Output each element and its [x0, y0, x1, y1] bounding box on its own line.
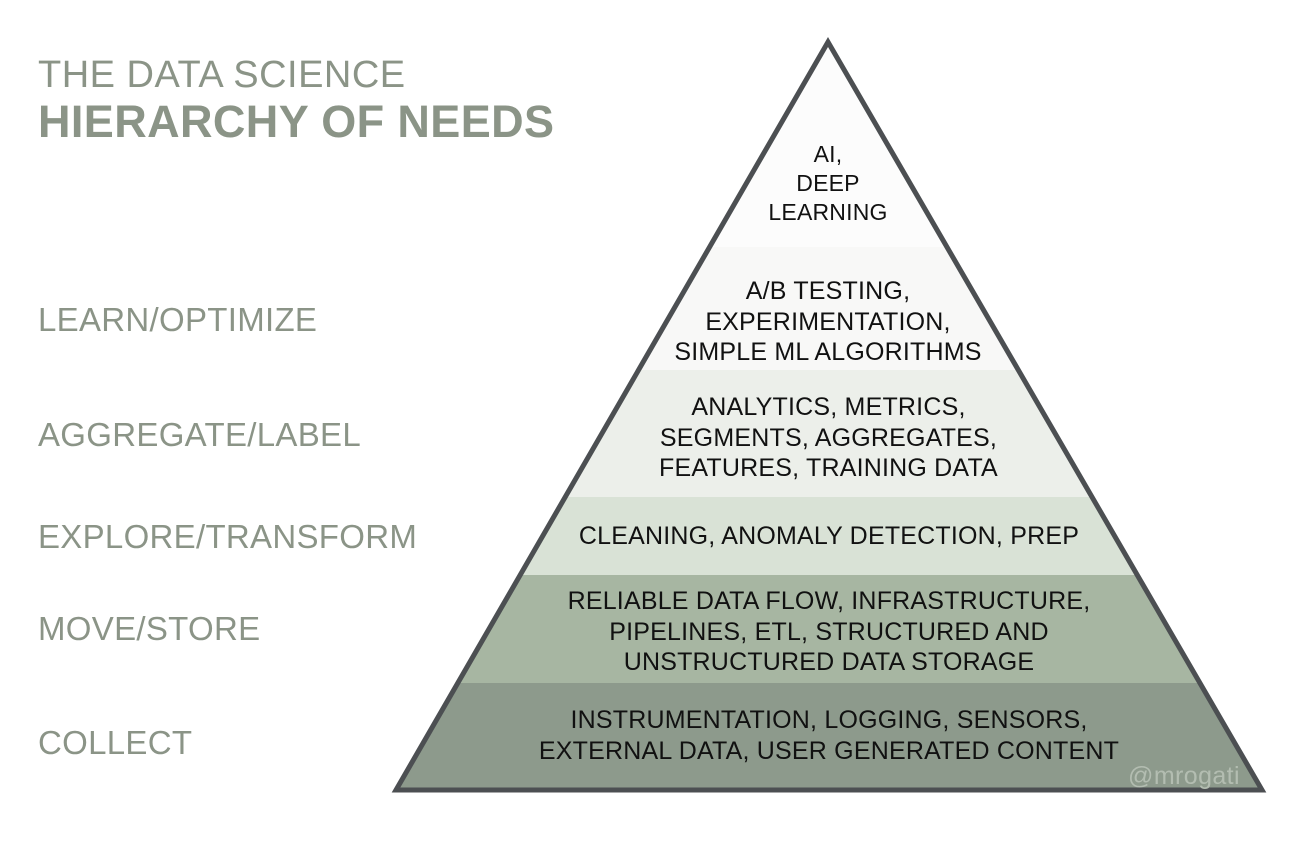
- pyramid-svg: [0, 0, 1315, 843]
- watermark-handle: @mrogati: [1128, 762, 1240, 791]
- pyramid-tier-ai-deep-learning: [710, 42, 947, 247]
- pyramid-tier-move-store: [457, 575, 1200, 683]
- pyramid-tier-aggregate-label: [565, 370, 1092, 497]
- infographic-canvas: THE DATA SCIENCE HIERARCHY OF NEEDS LEAR…: [0, 0, 1315, 843]
- pyramid-tier-learn-optimize: [638, 247, 1018, 370]
- pyramid-tier-explore-transform: [520, 497, 1137, 575]
- pyramid-diagram: [0, 0, 1315, 843]
